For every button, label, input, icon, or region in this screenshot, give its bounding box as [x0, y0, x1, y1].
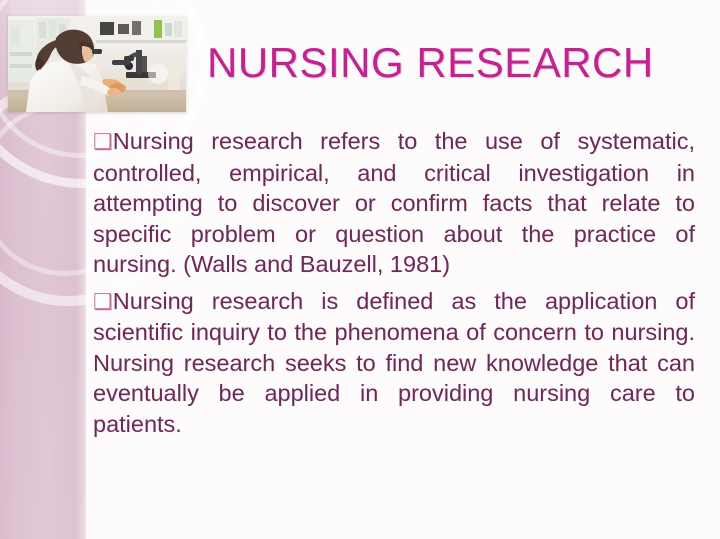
slide-title: NURSING RESEARCH [207, 38, 697, 88]
square-bullet-icon: ❑ [93, 129, 113, 154]
slide-body: ❑Nursing research refers to the use of s… [93, 126, 695, 439]
square-bullet-icon: ❑ [93, 289, 113, 314]
paragraph-1-text: Nursing research refers to the use of sy… [93, 128, 695, 277]
paragraph-2-text: Nursing research is defined as the appli… [93, 288, 695, 437]
researcher-microscope-photo [8, 16, 186, 112]
bullet-paragraph-2: ❑Nursing research is defined as the appl… [93, 286, 695, 440]
presentation-slide: NURSING RESEARCH ❑Nursing research refer… [0, 0, 720, 539]
bullet-paragraph-1: ❑Nursing research refers to the use of s… [93, 126, 695, 280]
